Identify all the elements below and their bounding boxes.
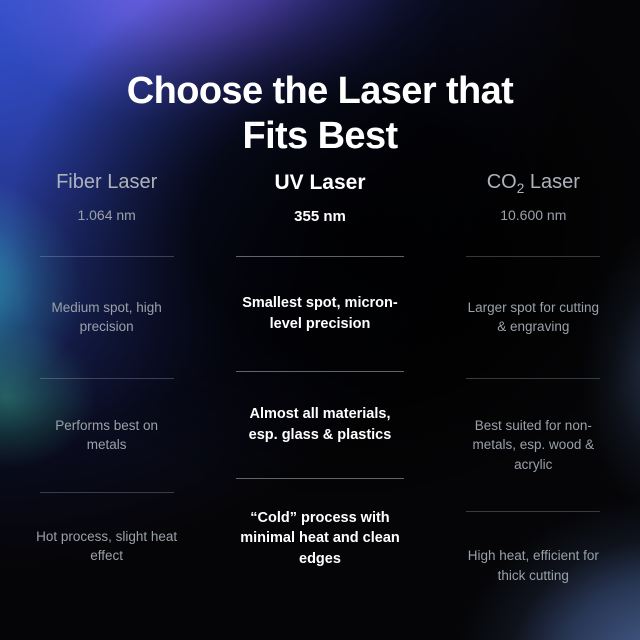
column-wavelength-fiber: 1.064 nm: [77, 207, 135, 223]
page-title-line-2: Fits Best: [242, 115, 397, 157]
content-area: Choose the Laser that Fits Best Fiber La…: [0, 0, 640, 640]
table-row: Performs best on metals: [0, 378, 213, 492]
comparison-table: Fiber Laser 1.064 nm Medium spot, high p…: [0, 168, 640, 607]
column-header-co2: CO2 Laser 10.600 nm: [487, 168, 580, 256]
cell-uv-row-2: Almost all materials, esp. glass & plast…: [228, 372, 412, 478]
column-wavelength-uv: 355 nm: [294, 208, 346, 225]
cell-uv-row-3: “Cold” process with minimal heat and cle…: [228, 479, 412, 589]
cell-fiber-row-3: Hot process, slight heat effect: [27, 493, 187, 588]
table-row: “Cold” process with minimal heat and cle…: [213, 478, 426, 589]
column-header-uv: UV Laser 355 nm: [274, 168, 365, 256]
table-row: High heat, efficient for thick cutting: [427, 511, 640, 607]
column-name-co2: CO2 Laser: [487, 170, 580, 194]
table-row: Almost all materials, esp. glass & plast…: [213, 371, 426, 478]
cell-uv-row-1: Smallest spot, micron-level precision: [228, 257, 412, 371]
column-fiber-laser: Fiber Laser 1.064 nm Medium spot, high p…: [0, 168, 213, 607]
column-name-fiber: Fiber Laser: [56, 170, 157, 194]
table-row: Best suited for non-metals, esp. wood & …: [427, 378, 640, 511]
column-co2-laser: CO2 Laser 10.600 nm Larger spot for cutt…: [427, 168, 640, 607]
page-title-line-1: Choose the Laser that: [127, 70, 513, 112]
cell-fiber-row-1: Medium spot, high precision: [27, 257, 187, 378]
comparison-infographic: Choose the Laser that Fits Best Fiber La…: [0, 0, 640, 640]
table-row: Larger spot for cutting & engraving: [427, 256, 640, 378]
cell-co2-row-2: Best suited for non-metals, esp. wood & …: [453, 379, 613, 511]
column-name-co2-suffix: Laser: [524, 171, 580, 193]
column-name-uv: UV Laser: [274, 170, 365, 195]
page-title: Choose the Laser that Fits Best: [0, 69, 640, 157]
cell-fiber-row-2: Performs best on metals: [27, 379, 187, 492]
table-row: Medium spot, high precision: [0, 256, 213, 378]
cell-co2-row-1: Larger spot for cutting & engraving: [453, 257, 613, 378]
table-row: Hot process, slight heat effect: [0, 492, 213, 588]
column-header-fiber: Fiber Laser 1.064 nm: [56, 168, 157, 256]
column-name-co2-prefix: CO: [487, 171, 517, 193]
column-wavelength-co2: 10.600 nm: [500, 207, 566, 223]
column-uv-laser: UV Laser 355 nm Smallest spot, micron-le…: [213, 168, 426, 607]
cell-co2-row-3: High heat, efficient for thick cutting: [453, 512, 613, 607]
table-row: Smallest spot, micron-level precision: [213, 256, 426, 371]
